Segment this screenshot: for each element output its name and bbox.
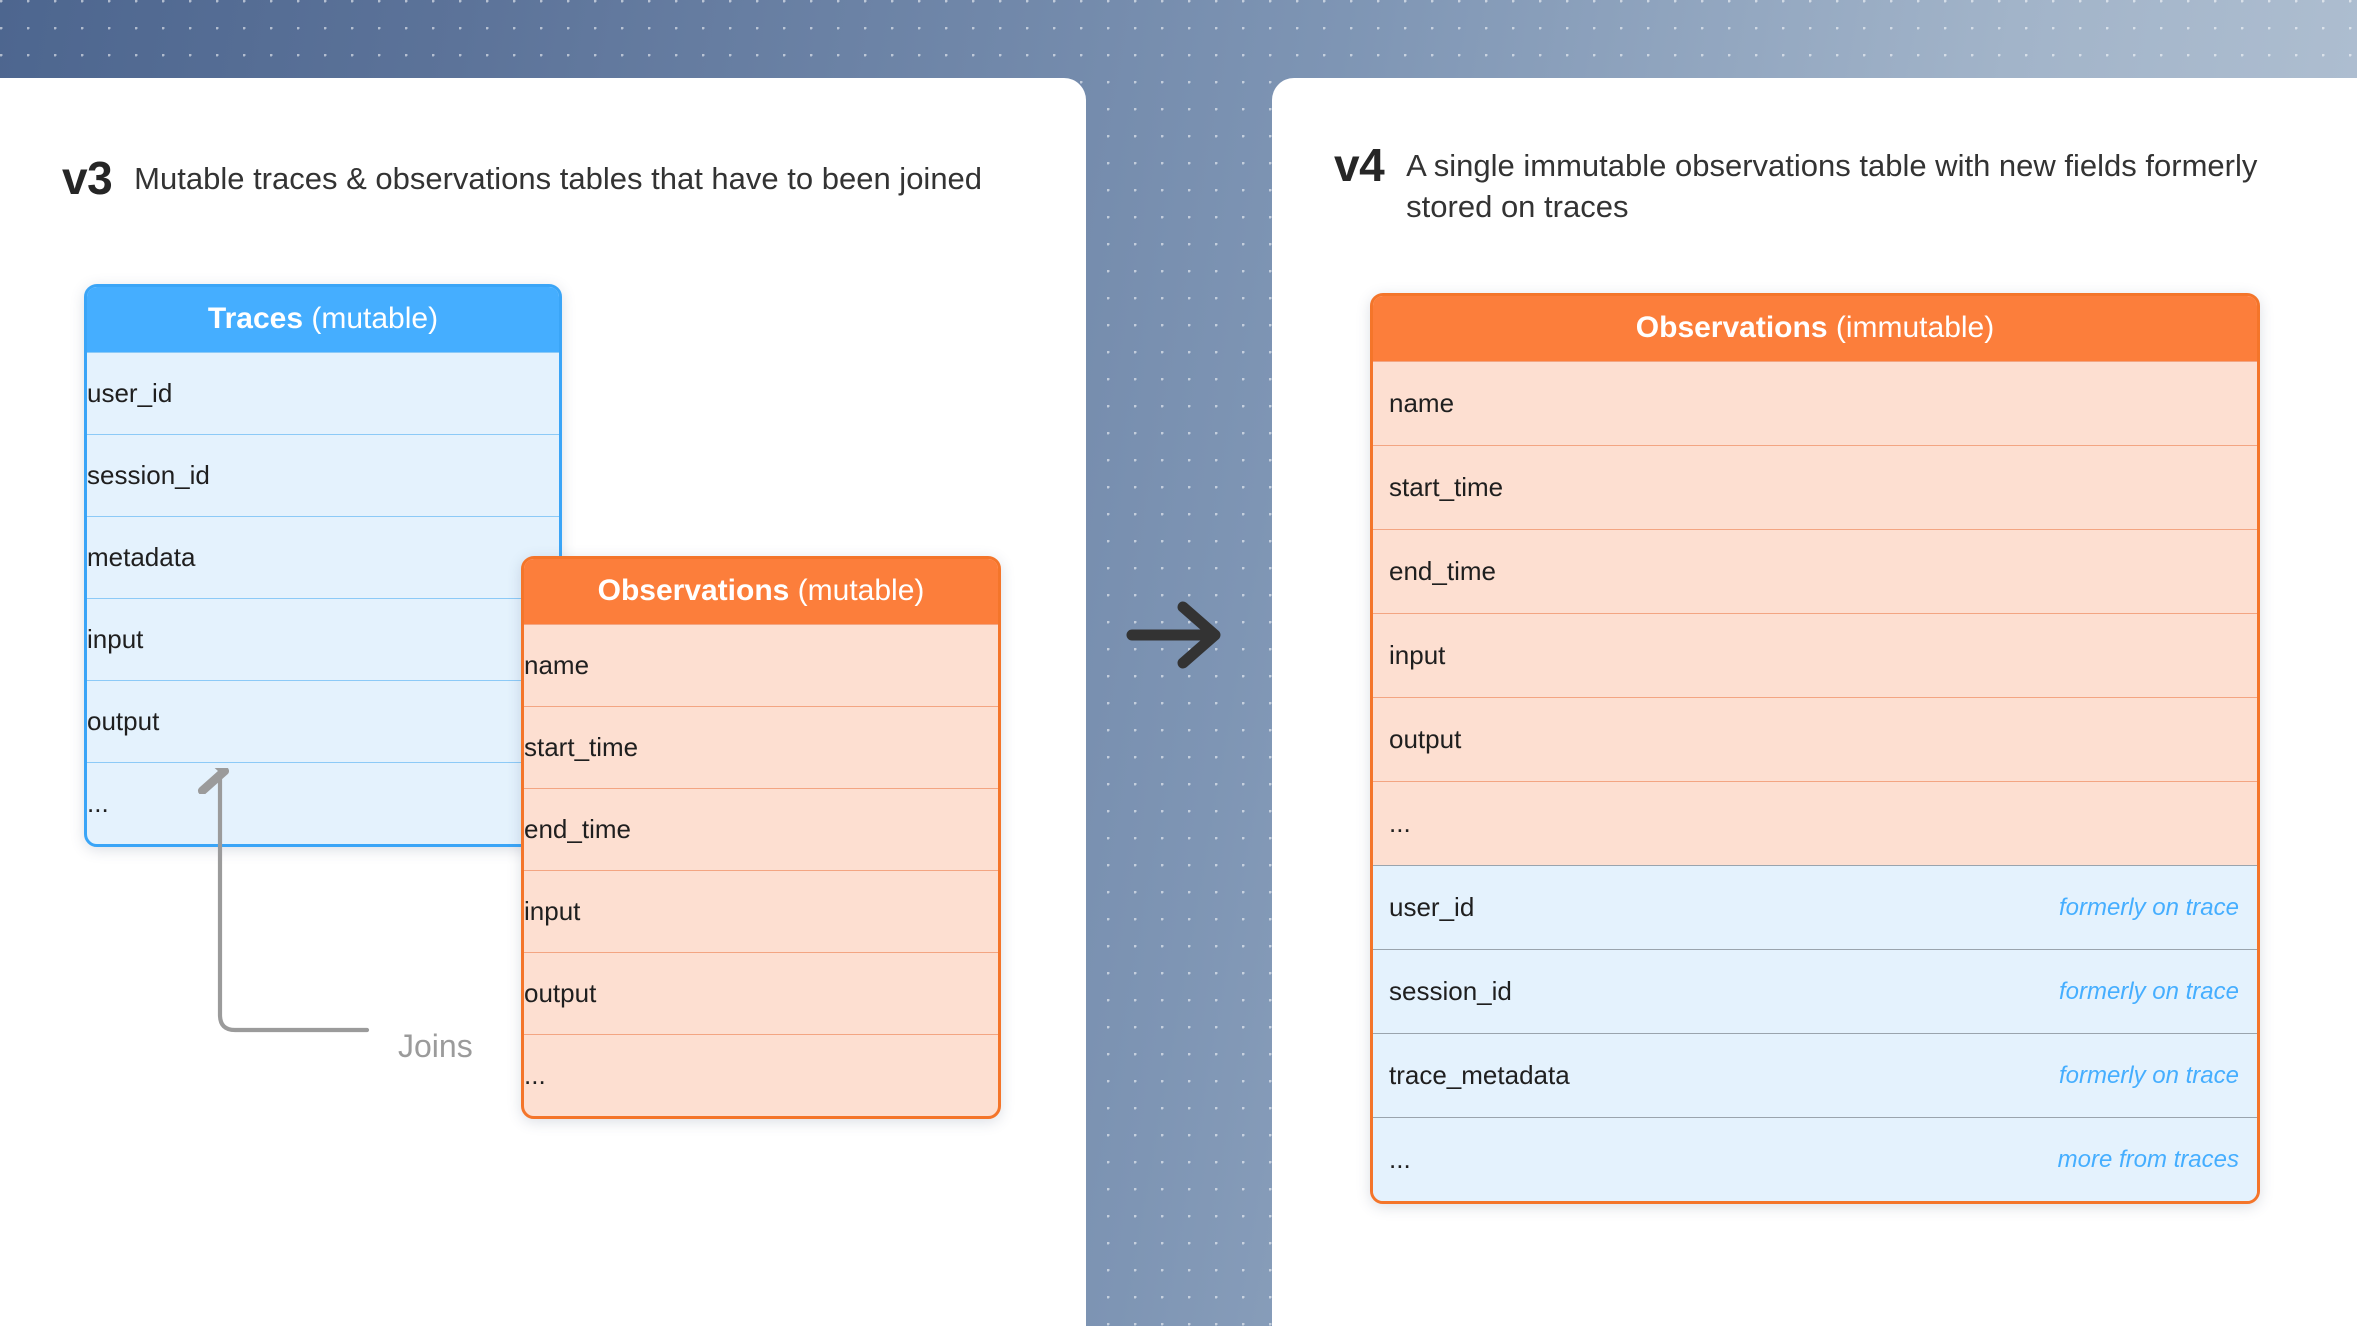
v3-description: Mutable traces & observations tables tha… [134,153,982,200]
row-label: input [524,896,998,927]
row-label: output [87,706,559,737]
observations-mutable-table-title: Observations [598,574,790,607]
row-note: formerly on trace [2059,894,2239,922]
row-label: session_id [87,460,559,491]
section-v3: v3 Mutable traces & observations tables … [0,78,1086,1326]
table-row: metadata [87,516,559,598]
row-label: ... [1389,1144,2058,1175]
observations-immutable-table-header: Observations (immutable) [1373,296,2257,361]
arrow-right-icon [1120,590,1240,680]
table-row: name [1373,361,2257,445]
table-row: ... [1373,781,2257,865]
observations-immutable-table-mutability: (immutable) [1828,311,1995,344]
row-label: trace_metadata [1389,1060,2059,1091]
row-label: user_id [1389,892,2059,923]
table-row: user_id [87,352,559,434]
row-label: start_time [524,732,998,763]
row-note: more from traces [2058,1146,2239,1174]
observations-immutable-table-title: Observations [1636,311,1828,344]
v3-heading: v3 Mutable traces & observations tables … [62,153,1022,201]
v4-description: A single immutable observations table wi… [1406,140,2294,228]
traces-table-mutability: (mutable) [303,302,438,335]
table-row: session_id [87,434,559,516]
row-label: end_time [524,814,998,845]
table-row: session_id formerly on trace [1373,949,2257,1033]
section-v4: v4 A single immutable observations table… [1272,78,2357,1326]
row-label: ... [87,788,559,819]
table-row: end_time [524,788,998,870]
row-label: ... [1389,808,2239,839]
table-row: end_time [1373,529,2257,613]
table-row: start_time [524,706,998,788]
row-label: session_id [1389,976,2059,1007]
table-row: input [87,598,559,680]
observations-mutable-table-header: Observations (mutable) [524,559,998,624]
table-row: start_time [1373,445,2257,529]
table-row: output [87,680,559,762]
row-note: formerly on trace [2059,978,2239,1006]
table-row: trace_metadata formerly on trace [1373,1033,2257,1117]
row-label: user_id [87,378,559,409]
row-label: ... [524,1060,998,1091]
table-row: output [1373,697,2257,781]
row-label: name [1389,388,2239,419]
table-row: ... [87,762,559,844]
row-label: output [524,978,998,1009]
table-row: ... [524,1034,998,1116]
row-label: input [87,624,559,655]
row-label: metadata [87,542,559,573]
joins-label: Joins [398,1028,473,1065]
traces-table-card: Traces (mutable) user_id session_id meta… [84,284,562,847]
observations-mutable-table-mutability: (mutable) [789,574,924,607]
table-row: input [1373,613,2257,697]
table-row: ... more from traces [1373,1117,2257,1201]
row-label: output [1389,724,2239,755]
row-label: start_time [1389,472,2239,503]
table-row: output [524,952,998,1034]
traces-table-title: Traces [208,302,303,335]
row-note: formerly on trace [2059,1062,2239,1090]
observations-immutable-table-card: Observations (immutable) name start_time… [1370,293,2260,1204]
v4-heading: v4 A single immutable observations table… [1334,140,2294,228]
row-label: name [524,650,998,681]
v3-version-tag: v3 [62,153,112,201]
observations-mutable-table-card: Observations (mutable) name start_time e… [521,556,1001,1119]
table-row: input [524,870,998,952]
row-label: end_time [1389,556,2239,587]
v4-version-tag: v4 [1334,140,1384,188]
table-row: user_id formerly on trace [1373,865,2257,949]
traces-table-header: Traces (mutable) [87,287,559,352]
table-row: name [524,624,998,706]
row-label: input [1389,640,2239,671]
